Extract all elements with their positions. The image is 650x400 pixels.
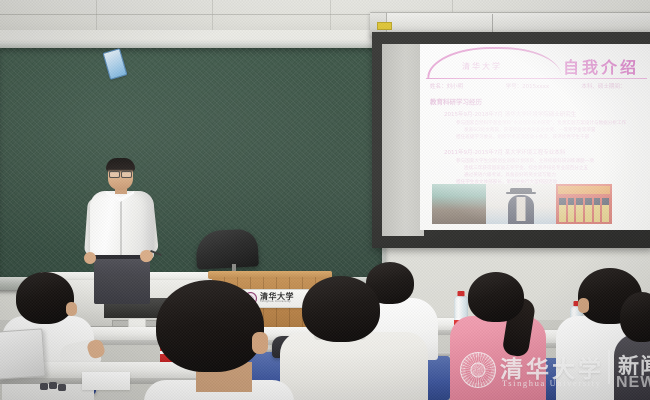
stole-shape <box>517 197 526 221</box>
slide-bullet: 连续三年获得国家励志奖学金，综合测评排名专业前百分之五 <box>464 165 645 171</box>
laptop <box>0 328 46 379</box>
student-ear <box>66 302 77 316</box>
slide-meta-2: 本科、硕士期间： <box>581 82 645 90</box>
projection-screen-left-margin <box>382 44 424 236</box>
chalkboard-surface <box>0 48 382 278</box>
slide-bullet: 参与国家自然科学基金项目“水处理新技术研究”，负责实验方案设计与数据分析工作 <box>456 120 645 126</box>
lecturer-left-hand <box>84 252 96 264</box>
student-head <box>16 272 74 324</box>
student-torso <box>614 334 650 400</box>
slide-section-heading: 教育科研学习经历 <box>430 96 482 106</box>
slide-photo-graduation-group <box>432 184 486 224</box>
slide-bullet: 2015年9月-2018年7月 清华大学环境学院硕士研究生 <box>444 110 645 118</box>
chalkboard-texture <box>0 48 382 278</box>
slide-bullet: 担任班级学习委员，组织学术交流活动十余次，获评优秀学生干部 <box>456 134 645 140</box>
student-ear <box>578 298 589 313</box>
slide-meta-row: 姓名：刘小明 学号：2015xxxx 本科、硕士期间： <box>430 82 645 90</box>
slide-bullet-list: 2015年9月-2018年7月 清华大学环境学院硕士研究生 参与国家自然科学基金… <box>430 110 645 186</box>
slide-bullet: 参与国家大学生创新创业训练计划项目，主持校级科研训练课题一项 <box>456 158 645 164</box>
slide-photo-award-ceremony <box>556 184 612 224</box>
classroom-photo: 清华大学 自我介绍 姓名：刘小明 学号：2015xxxx 本科、硕士期间： 教育… <box>0 0 650 400</box>
slide-bullet: 2011年9月-2015年7月 某大学环境工程专业本科 <box>444 148 645 156</box>
student-foreground-left <box>156 280 286 400</box>
slide-meta-0: 姓名：刘小明 <box>430 82 494 90</box>
paper-sheet <box>82 372 130 390</box>
slide-photo-graduation-portrait <box>486 184 556 224</box>
slide-photo-strip <box>432 184 612 224</box>
lecturer-shirt-placket <box>120 200 122 256</box>
keys <box>40 382 70 392</box>
slide-title: 自我介绍 <box>563 54 639 78</box>
student-head <box>468 272 524 322</box>
slide-meta-1: 学号：2015xxxx <box>506 82 570 90</box>
glasses-icon <box>109 171 132 176</box>
student-head <box>620 292 650 342</box>
chalkboard <box>0 42 386 290</box>
housing-label-sticker <box>377 22 392 30</box>
student-head <box>302 276 380 342</box>
slide-divider <box>426 78 647 79</box>
mortarboard-icon <box>510 188 532 194</box>
student-ponytail <box>452 272 544 400</box>
student-center <box>296 276 416 400</box>
student-head <box>156 280 264 372</box>
student-far-right <box>620 292 650 400</box>
ceremony-banner <box>558 186 610 194</box>
lecturer-trousers <box>94 256 150 304</box>
student-ear <box>252 332 268 354</box>
projection-screen-surface: 清华大学 自我介绍 姓名：刘小明 学号：2015xxxx 本科、硕士期间： 教育… <box>420 44 650 230</box>
student-torso <box>280 332 428 400</box>
lecturer-shirt <box>90 191 154 259</box>
presentation-slide: 清华大学 自我介绍 姓名：刘小明 学号：2015xxxx 本科、硕士期间： 教育… <box>420 44 650 230</box>
slide-logo-text: 清华大学 <box>462 61 502 72</box>
slide-bullet: 发表SCI论文两篇，获得校级优秀毕业论文奖、一等奖学金等荣誉 <box>464 127 645 133</box>
slide-bullet: 通过英语六级考试，具备良好的英文读写能力 <box>464 172 645 178</box>
ceremony-people-row <box>559 198 609 222</box>
